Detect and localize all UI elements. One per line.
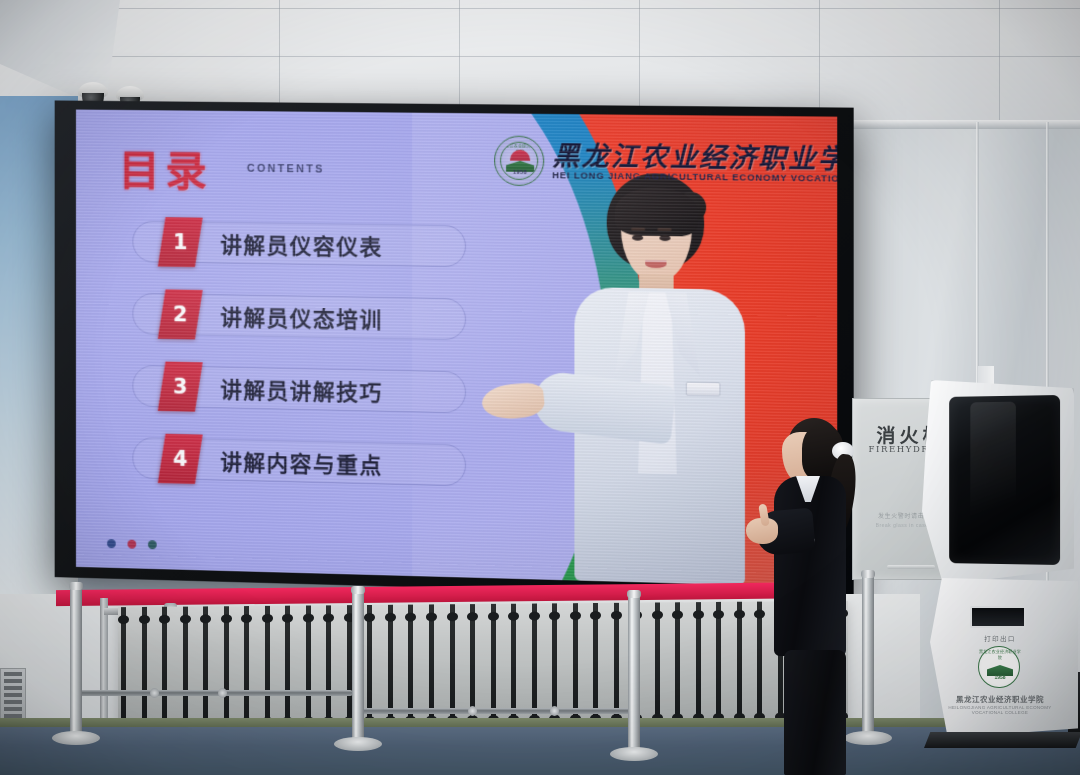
barrier-rope <box>360 708 635 714</box>
college-name-en: HEI LONG JIANG AGRICULTURAL ECONOMY VOCA… <box>552 170 837 184</box>
column-radiator <box>118 601 848 737</box>
toc-item[interactable]: 1 讲解员仪容仪表 <box>132 217 488 272</box>
kiosk-base <box>924 732 1080 748</box>
presentation-slide: 目录 CONTENTS 1 讲解员仪容仪表 2 讲解员仪态培训 <box>76 110 837 588</box>
pager-dot-red[interactable] <box>127 540 136 549</box>
pager-dot-teal[interactable] <box>148 540 157 549</box>
slide-title: 目录 <box>119 138 213 199</box>
pager-dot-blue[interactable] <box>107 539 116 548</box>
presenter <box>762 418 874 775</box>
kiosk-seal-arc-text: 黑龙江农业经济职业学院 <box>979 649 1021 661</box>
seal-year: 1958 <box>501 170 538 176</box>
toc-item[interactable]: 4 讲解内容与重点 <box>132 433 488 491</box>
barrier-post <box>628 596 640 754</box>
right-wall-ledge <box>836 120 1080 129</box>
toc-number: 3 <box>162 362 199 412</box>
print-output-slot <box>970 606 1026 628</box>
barrier-rope <box>78 690 353 696</box>
slide-subtitle: CONTENTS <box>247 163 325 176</box>
toc-number: 4 <box>162 434 199 484</box>
model-name-badge <box>686 382 721 397</box>
led-display-bezel: 目录 CONTENTS 1 讲解员仪容仪表 2 讲解员仪态培训 <box>55 100 854 599</box>
toc-number-tag: 4 <box>158 434 203 484</box>
toc-number: 2 <box>162 289 199 339</box>
kiosk-seal-year: 1958 <box>979 675 1021 681</box>
toc-number-tag: 1 <box>158 217 203 267</box>
college-seal-icon: 黑龙江农业经济职业学院 1958 <box>494 135 544 186</box>
toc-label: 讲解员仪容仪表 <box>220 228 382 262</box>
barrier-post <box>352 592 364 744</box>
toc-label: 讲解内容与重点 <box>220 445 382 481</box>
toc-number-tag: 3 <box>158 362 203 412</box>
kiosk-screen-glare <box>970 402 1016 553</box>
toc-number: 1 <box>162 217 199 267</box>
kiosk-college-name-cn: 黑龙江农业经济职业学院 <box>942 694 1058 705</box>
table-of-contents: 1 讲解员仪容仪表 2 讲解员仪态培训 3 讲解员讲解技巧 <box>132 217 488 514</box>
toc-item[interactable]: 3 讲解员讲解技巧 <box>132 361 488 418</box>
self-service-kiosk[interactable]: 打印出口 黑龙江农业经济职业学院 1958 黑龙江农业经济职业学院 HEILON… <box>918 380 1080 750</box>
print-output-label: 打印出口 <box>952 633 1048 643</box>
led-display-screen[interactable]: 目录 CONTENTS 1 讲解员仪容仪表 2 讲解员仪态培训 <box>76 110 837 588</box>
barrier-post <box>70 588 82 738</box>
college-logo-block: 黑龙江农业经济职业学院 1958 黑龙江农业经济职业学院 HEI LONG JI… <box>494 133 829 195</box>
kiosk-college-seal-icon: 黑龙江农业经济职业学院 1958 <box>978 646 1020 688</box>
radiator-pipe <box>100 598 108 738</box>
classroom-presentation-scene: 目录 CONTENTS 1 讲解员仪容仪表 2 讲解员仪态培训 <box>0 0 1080 775</box>
toc-item[interactable]: 2 讲解员仪态培训 <box>132 289 488 345</box>
kiosk-college-name-en: HEILONGJIANG AGRICULTURAL ECONOMY VOCATI… <box>942 705 1058 715</box>
toc-number-tag: 2 <box>158 289 203 339</box>
slide-pager-dots <box>107 539 157 549</box>
toc-label: 讲解员讲解技巧 <box>220 373 382 408</box>
toc-label: 讲解员仪态培训 <box>220 300 382 335</box>
